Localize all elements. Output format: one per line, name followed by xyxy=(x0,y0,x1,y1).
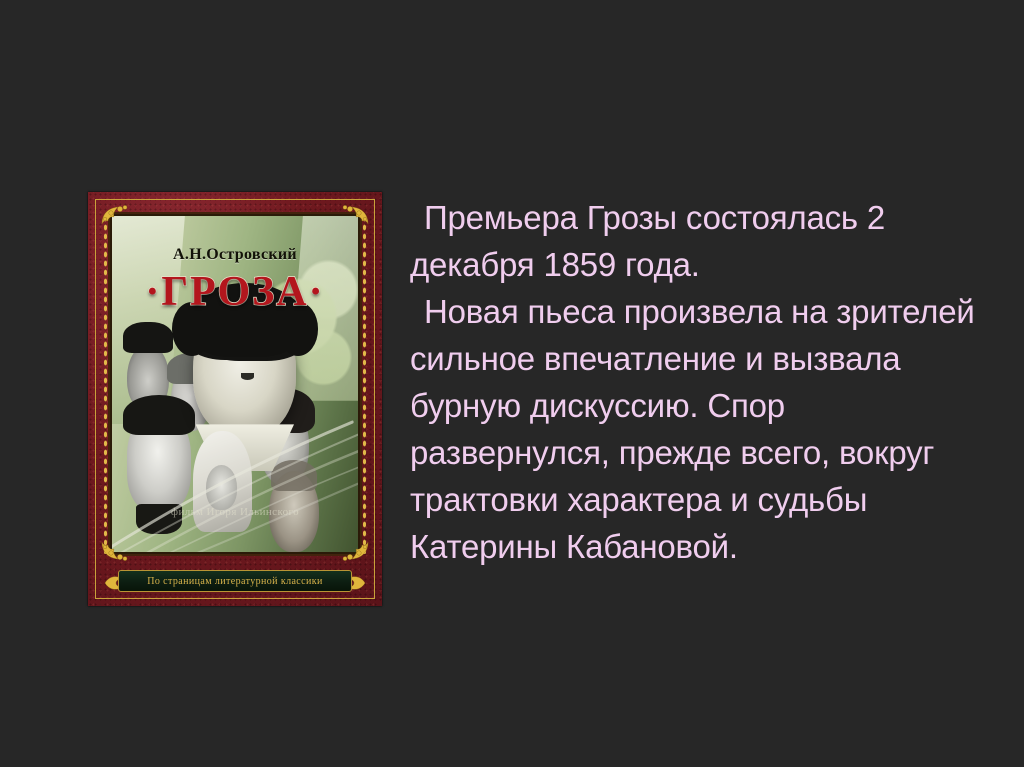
cover-banner-text: По страницам литературной классики xyxy=(147,576,323,587)
cover-credit-text: фильм Игоря Ильинского xyxy=(112,506,358,518)
cover-photo-collage xyxy=(112,216,358,552)
cover-artwork-frame: А.Н.Островский ·ГРОЗА· фильм Игоря Ильин… xyxy=(110,214,360,554)
cover-bottom-banner: По страницам литературной классики xyxy=(118,570,352,592)
slide-body-text: Премьера Грозы состоялась 2 декабря 1859… xyxy=(410,194,982,570)
cover-title-text: ·ГРОЗА· xyxy=(112,268,358,316)
photo-mouth xyxy=(241,373,254,380)
cover-author-text: А.Н.Островский xyxy=(112,246,358,264)
paragraph-reception: Новая пьеса произвела на зрителей сильно… xyxy=(410,288,982,570)
paragraph-premiere: Премьера Грозы состоялась 2 декабря 1859… xyxy=(410,194,982,288)
photo-figure-young-man xyxy=(127,411,191,512)
book-cover-image: А.Н.Островский ·ГРОЗА· фильм Игоря Ильин… xyxy=(88,192,382,606)
presentation-slide: А.Н.Островский ·ГРОЗА· фильм Игоря Ильин… xyxy=(0,0,1024,767)
